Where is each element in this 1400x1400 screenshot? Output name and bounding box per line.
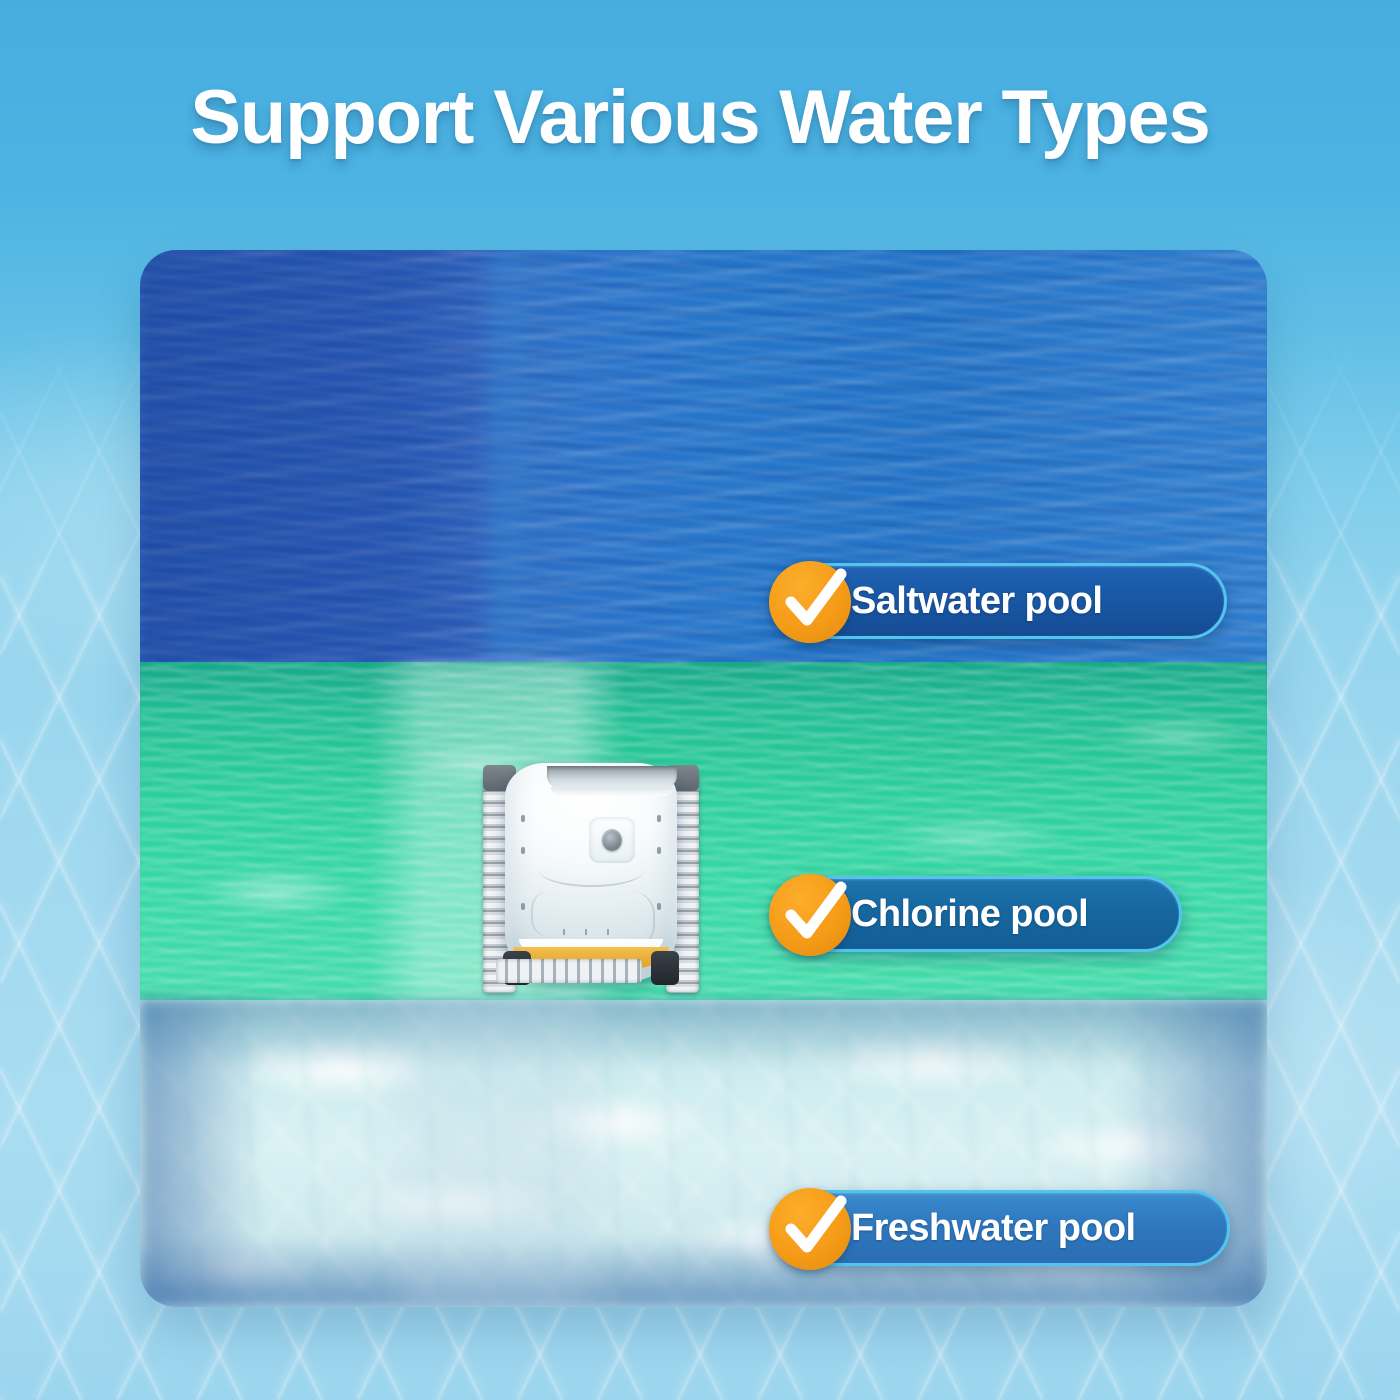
screw: [657, 903, 661, 910]
check-mark-icon: [765, 1179, 861, 1275]
top-lip: [551, 787, 673, 796]
badge-chlorine-pool[interactable]: Chlorine pool: [772, 876, 1182, 952]
body-seam: [539, 867, 644, 887]
screw: [521, 847, 525, 854]
cleaner-body: [505, 763, 677, 981]
badge-label: Saltwater pool: [851, 580, 1102, 623]
page-title: Support Various Water Types: [0, 74, 1400, 161]
screw: [657, 815, 661, 822]
cleaned-path-freshwater: [372, 1000, 622, 1307]
wheel-right: [651, 951, 679, 985]
badge-freshwater-pool[interactable]: Freshwater pool: [772, 1190, 1230, 1266]
sensor-icon: [602, 829, 622, 851]
check-mark-icon: [765, 552, 861, 648]
band-top-shadow: [140, 1000, 1267, 1070]
vent-dots: [563, 929, 629, 935]
water-types-photo-card: [140, 250, 1267, 1307]
screw: [521, 815, 525, 822]
check-mark-icon: [765, 865, 861, 961]
brush-roller: [496, 959, 642, 983]
badge-saltwater-pool[interactable]: Saltwater pool: [772, 563, 1227, 639]
saltwater-dark-zone: [140, 250, 508, 662]
robotic-pool-cleaner: [483, 763, 699, 1007]
badge-label: Freshwater pool: [851, 1207, 1136, 1250]
badge-label: Chlorine pool: [851, 893, 1088, 936]
saltwater-seam: [478, 250, 534, 662]
handle-left: [531, 891, 555, 937]
screw: [521, 903, 525, 910]
screw: [657, 847, 661, 854]
